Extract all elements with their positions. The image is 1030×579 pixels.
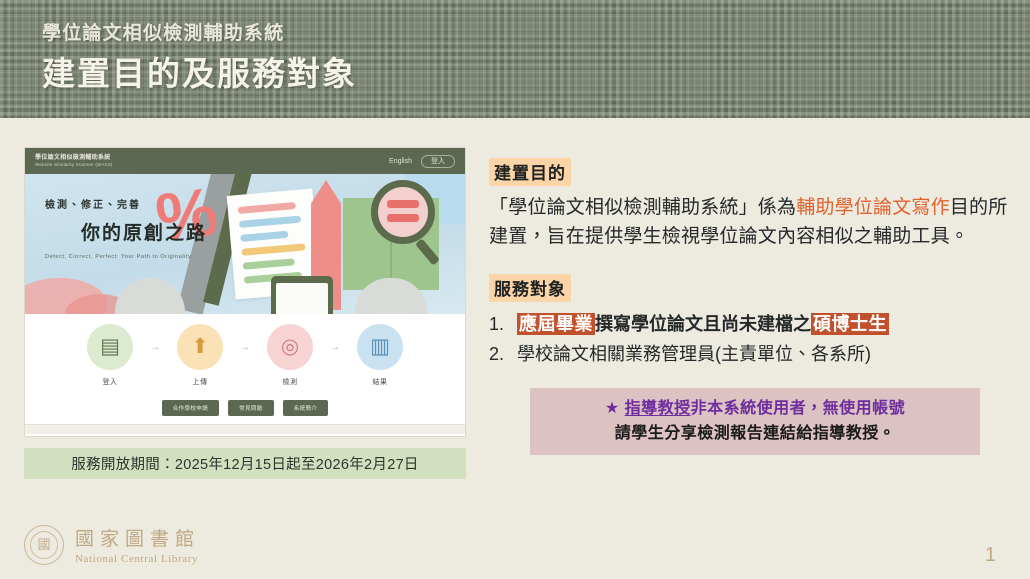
- language-link[interactable]: English: [389, 158, 412, 165]
- footer-org-names: 國家圖書館 National Central Library: [75, 524, 200, 565]
- purpose-text-emphasis: 輔助學位論文寫作: [796, 197, 950, 218]
- list-item: 2. 學校論文相關業務管理員(主責單位、各系所): [489, 341, 1009, 368]
- page-title: 建置目的及服務對象: [42, 52, 357, 97]
- phone-icon: [271, 276, 333, 314]
- left-column: 學位論文相似檢測輔助系統 Website Similarity Scanner …: [24, 147, 466, 479]
- header-text-block: 學位論文相似檢測輔助系統 建置目的及服務對象: [42, 22, 357, 96]
- list-item-number: 1.: [489, 311, 517, 338]
- step-label: 檢測: [259, 377, 321, 387]
- service-period-band: 服務開放期間：2025年12月15日起至2026年2月27日: [24, 448, 466, 479]
- purpose-section: 建置目的 「學位論文相似檢測輔助系統」係為輔助學位論文寫作目的所建置，旨在提供學…: [489, 158, 1009, 252]
- site-steps: ▤ 登入 → ⬆ 上傳 → ◎ 檢測 → ▥: [25, 314, 465, 396]
- site-nav: English 登入: [389, 155, 455, 168]
- purpose-paragraph: 「學位論文相似檢測輔助系統」係為輔助學位論文寫作目的所建置，旨在提供學生檢視學位…: [489, 194, 1009, 252]
- service-targets-heading: 服務對象: [489, 274, 571, 302]
- hero-headline: 你的原創之路: [81, 218, 207, 245]
- note-box: ★ 指導教授非本系統使用者，無使用帳號 請學生分享檢測報告連結給指導教授。: [530, 388, 980, 455]
- service-targets-section: 服務對象 1. 應屆畢業撰寫學位論文且尚未建檔之碩博士生 2. 學校論文相關業務…: [489, 274, 1009, 368]
- purpose-heading: 建置目的: [489, 158, 571, 186]
- site-brand: 學位論文相似檢測輔助系統 Website Similarity Scanner …: [35, 155, 113, 167]
- step-label: 上傳: [169, 377, 231, 387]
- note-line-1-rest: 非本系統使用者，無使用帳號: [691, 400, 906, 417]
- login-button[interactable]: 登入: [421, 155, 455, 168]
- hero-subtitle-en: Detect, Correct, Perfect: Your Path to O…: [45, 254, 207, 260]
- highlight-chip-1: 應屆畢業: [517, 313, 595, 335]
- star-icon: ★: [605, 400, 620, 417]
- step-item-detect[interactable]: ◎ 檢測: [259, 324, 321, 387]
- list-item-number: 2.: [489, 341, 517, 368]
- site-hero: % 檢測、修正、完善 你的原創之路 Detect, Correct, Perfe…: [25, 174, 465, 314]
- note-line-1: ★ 指導教授非本系統使用者，無使用帳號: [542, 397, 968, 420]
- site-button-2[interactable]: 常見問題: [228, 400, 274, 416]
- step-item-upload[interactable]: ⬆ 上傳: [169, 324, 231, 387]
- magnifier-line-1: [387, 200, 419, 208]
- step-label: 結果: [349, 377, 411, 387]
- magnifier-icon: [371, 180, 435, 244]
- website-screenshot: 學位論文相似檢測輔助系統 Website Similarity Scanner …: [24, 147, 466, 437]
- step-arrow-icon: →: [330, 342, 340, 353]
- footer-logo: 國 國家圖書館 National Central Library: [24, 524, 200, 565]
- list-item-text: 學校論文相關業務管理員(主責單位、各系所): [517, 341, 871, 368]
- site-topbar: 學位論文相似檢測輔助系統 Website Similarity Scanner …: [25, 148, 465, 174]
- purpose-text-1: 「學位論文相似檢測輔助系統」係為: [489, 197, 796, 218]
- site-button-1[interactable]: 合作學校申請: [162, 400, 219, 416]
- list-item-text: 應屆畢業撰寫學位論文且尚未建檔之碩博士生: [517, 311, 889, 338]
- list-item-text-mid: 撰寫學位論文且尚未建檔之: [595, 314, 811, 334]
- hero-copy: 檢測、修正、完善 你的原創之路 Detect, Correct, Perfect…: [45, 196, 207, 260]
- document-scan-icon: ◎: [267, 324, 313, 370]
- magnifier-line-2: [387, 214, 419, 222]
- org-name-zh: 國家圖書館: [75, 524, 200, 551]
- service-period-text: 服務開放期間：2025年12月15日起至2026年2月27日: [71, 453, 418, 474]
- right-column: 建置目的 「學位論文相似檢測輔助系統」係為輔助學位論文寫作目的所建置，旨在提供學…: [489, 158, 1009, 455]
- site-action-buttons: 合作學校申請 常見問題 系統簡介: [25, 396, 465, 424]
- seal-char: 國: [37, 538, 50, 551]
- step-arrow-icon: →: [150, 342, 160, 353]
- laptop-login-icon: ▤: [87, 324, 133, 370]
- note-underlined-term: 指導教授: [625, 400, 691, 417]
- library-seal-icon: 國: [24, 525, 64, 565]
- note-line-2: 請學生分享檢測報告連結給指導教授。: [542, 422, 968, 445]
- site-footer-divider: [25, 424, 465, 434]
- hand-left-icon: [115, 278, 185, 314]
- site-brand-en: Website Similarity Scanner (WASS): [35, 162, 113, 167]
- list-item: 1. 應屆畢業撰寫學位論文且尚未建檔之碩博士生: [489, 311, 1009, 338]
- report-result-icon: ▥: [357, 324, 403, 370]
- highlight-chip-2: 碩博士生: [811, 313, 889, 335]
- upload-folder-icon: ⬆: [177, 324, 223, 370]
- slide-header: 學位論文相似檢測輔助系統 建置目的及服務對象: [0, 0, 1030, 118]
- site-brand-zh: 學位論文相似檢測輔助系統: [35, 155, 113, 162]
- org-name-en: National Central Library: [75, 553, 200, 565]
- step-item-result[interactable]: ▥ 結果: [349, 324, 411, 387]
- page-number: 1: [985, 544, 996, 567]
- step-arrow-icon: →: [240, 342, 250, 353]
- step-item-login[interactable]: ▤ 登入: [79, 324, 141, 387]
- hero-tagline: 檢測、修正、完善: [45, 196, 207, 211]
- site-button-3[interactable]: 系統簡介: [283, 400, 329, 416]
- service-targets-list: 1. 應屆畢業撰寫學位論文且尚未建檔之碩博士生 2. 學校論文相關業務管理員(主…: [489, 311, 1009, 368]
- header-eyebrow: 學位論文相似檢測輔助系統: [42, 22, 357, 47]
- step-label: 登入: [79, 377, 141, 387]
